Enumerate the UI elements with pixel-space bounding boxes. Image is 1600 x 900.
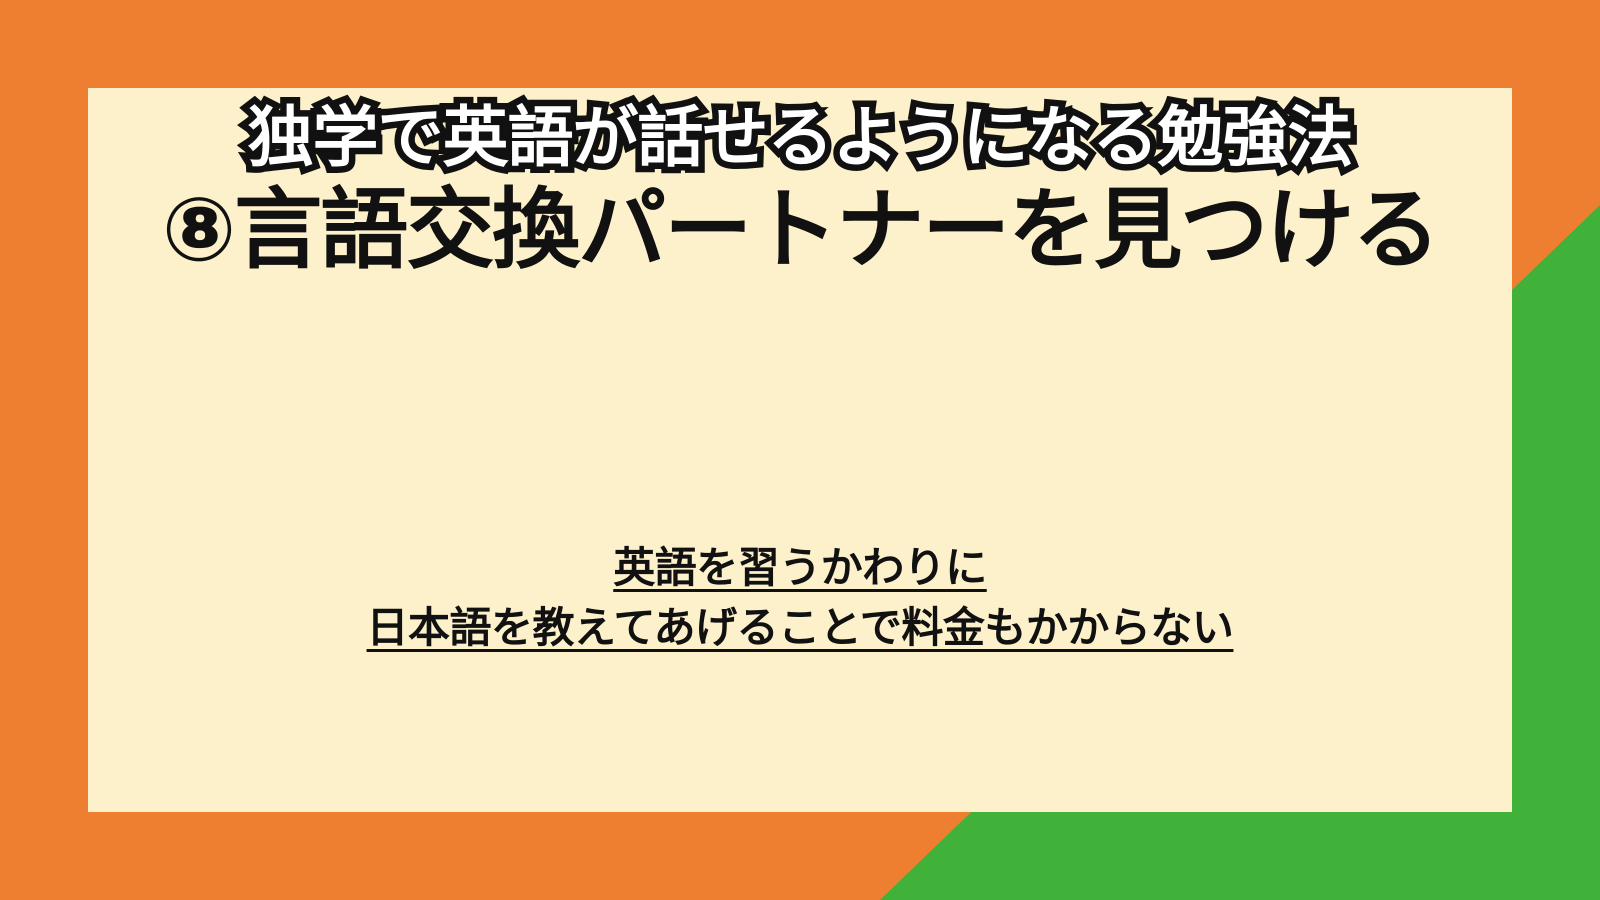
title-line-primary: 独学で英語が話せるようになる勉強法: [0, 104, 1600, 170]
slide-canvas: 独学で英語が話せるようになる勉強法 ⑧言語交換パートナーを見つける 英語を習うか…: [0, 0, 1600, 900]
subtitle-line-1: 英語を習うかわりに: [0, 538, 1600, 598]
title-line-secondary: ⑧言語交換パートナーを見つける: [0, 184, 1600, 276]
subtitle-line-2: 日本語を教えてあげることで料金もかからない: [0, 598, 1600, 658]
headline-block: 独学で英語が話せるようになる勉強法 ⑧言語交換パートナーを見つける: [0, 104, 1600, 276]
subtitle-block: 英語を習うかわりに 日本語を教えてあげることで料金もかからない: [0, 538, 1600, 657]
